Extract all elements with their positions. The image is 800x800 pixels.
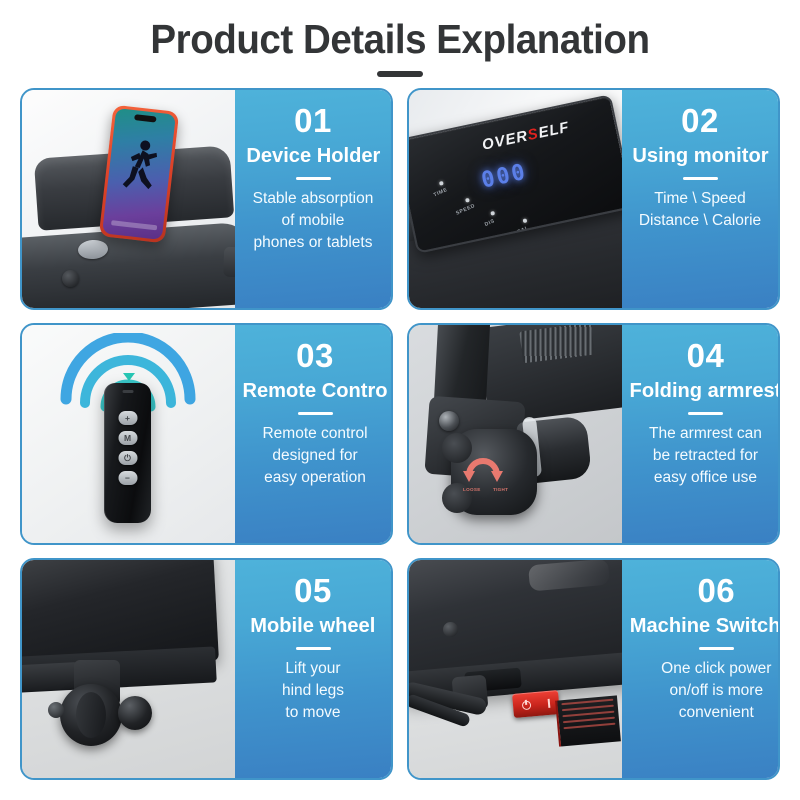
card-divider-03 <box>298 412 333 416</box>
label-line <box>562 711 614 718</box>
desc-line: Lift your <box>282 658 344 680</box>
feature-card-04[interactable]: LOOSE TIGHT 04 Folding armrest The armre… <box>407 323 780 545</box>
card-heading-03: Remote Contro <box>242 380 387 403</box>
wheel-axle-shape <box>48 702 64 718</box>
card-description-01: Stable absorption of mobile phones or ta… <box>253 188 374 254</box>
desc-line: convenient <box>661 702 771 724</box>
card-description-03: Remote control designed for easy operati… <box>262 423 367 489</box>
console-label-dis: DIS <box>484 218 496 228</box>
console-label-speed: SPEED <box>455 203 476 217</box>
feature-card-05[interactable]: 05 Mobile wheel Lift your hind legs to m… <box>20 558 393 780</box>
machine-small-knob-shape <box>443 622 458 637</box>
page-title: Product Details Explanation <box>24 17 776 62</box>
photo-mobile-wheel <box>22 560 235 778</box>
console-indicator-dot <box>523 218 528 223</box>
brand-suffix: ELF <box>537 119 571 142</box>
feature-card-grid: 01 Device Holder Stable absorption of mo… <box>20 88 780 780</box>
feature-card-03[interactable]: + M ⏻ − 03 Remote Contro Remote control … <box>20 323 393 545</box>
remote-led-strip <box>122 390 133 393</box>
phone-screen-caption-bar <box>111 220 157 230</box>
card-number-06: 06 <box>697 574 735 607</box>
card-divider-01 <box>296 177 331 181</box>
remote-button-mode[interactable]: M <box>118 431 137 445</box>
card-number-03: 03 <box>296 339 334 372</box>
card-text-panel-01: 01 Device Holder Stable absorption of mo… <box>235 90 391 308</box>
deck-foot-knob-shape <box>118 696 152 730</box>
runner-silhouette-icon <box>119 135 160 200</box>
card-description-06: One click power on/off is more convenien… <box>661 658 771 724</box>
brand-logo-text: OVERSELF <box>481 119 571 154</box>
card-text-panel-04: 04 Folding armrest The armrest can be re… <box>622 325 780 543</box>
phone-screen <box>102 108 176 240</box>
card-heading-01: Device Holder <box>246 145 380 168</box>
card-description-04: The armrest can be retracted for easy of… <box>649 423 762 489</box>
signal-emitter-icon <box>123 373 135 381</box>
photo-remote-control: + M ⏻ − <box>22 325 235 543</box>
console-label-time: TIME <box>433 187 449 198</box>
feature-card-01[interactable]: 01 Device Holder Stable absorption of mo… <box>20 88 393 310</box>
desc-line: Distance \ Calorie <box>639 210 761 232</box>
feature-card-02[interactable]: OVERSELF 000 TIME SPEED DIS CAL 02 Using… <box>407 88 780 310</box>
card-heading-05: Mobile wheel <box>250 615 375 638</box>
card-description-05: Lift your hind legs to move <box>282 658 344 724</box>
desc-line: Stable absorption <box>253 188 374 210</box>
desc-line: The armrest can <box>649 423 762 445</box>
desc-line: One click power <box>661 658 771 680</box>
feature-card-06[interactable]: 06 Machine Switches One click power on/o… <box>407 558 780 780</box>
power-on-symbol-icon <box>548 698 551 707</box>
smartphone-shape <box>99 105 180 244</box>
console-indicator-dot <box>465 198 470 203</box>
card-divider-06 <box>699 647 734 651</box>
led-readout: 000 <box>479 160 529 194</box>
armrest-bolt-shape <box>439 411 459 431</box>
photo-folding-armrest: LOOSE TIGHT <box>409 325 622 543</box>
card-heading-04: Folding armrest <box>630 380 780 403</box>
desc-line: to move <box>282 702 344 724</box>
card-divider-02 <box>683 177 718 181</box>
caster-wheel-shape <box>60 684 122 746</box>
card-text-panel-03: 03 Remote Contro Remote control designed… <box>235 325 393 543</box>
remote-button-plus[interactable]: + <box>118 411 137 425</box>
card-heading-02: Using monitor <box>632 145 768 168</box>
page-header: Product Details Explanation <box>0 0 800 77</box>
card-text-panel-05: 05 Mobile wheel Lift your hind legs to m… <box>235 560 391 778</box>
label-line <box>561 699 613 706</box>
remote-button-minus[interactable]: − <box>118 471 137 485</box>
desc-line: be retracted for <box>649 445 762 467</box>
desc-line: phones or tablets <box>253 232 374 254</box>
remote-button-power[interactable]: ⏻ <box>118 451 137 465</box>
label-line <box>563 723 615 730</box>
rotation-arrow-icon <box>461 449 505 489</box>
photo-device-holder <box>22 90 235 308</box>
desc-line: designed for <box>262 445 367 467</box>
desc-line: Remote control <box>262 423 367 445</box>
card-number-02: 02 <box>681 104 719 137</box>
card-heading-06: Machine Switches <box>630 615 780 638</box>
deck-knob-shape <box>62 270 79 287</box>
remote-body-shape: + M ⏻ − <box>104 383 151 523</box>
card-divider-05 <box>296 647 331 651</box>
card-text-panel-06: 06 Machine Switches One click power on/o… <box>622 560 780 778</box>
knob-label-tight: TIGHT <box>493 487 508 492</box>
desc-line: easy office use <box>649 467 762 489</box>
card-number-01: 01 <box>294 104 332 137</box>
knob-label-loose: LOOSE <box>463 487 481 492</box>
infographic-page: Product Details Explanation <box>0 0 800 800</box>
console-indicator-dot <box>490 211 495 216</box>
warning-label-strip <box>555 695 621 746</box>
power-off-symbol-icon <box>521 700 531 710</box>
console-indicator-dot <box>439 181 444 186</box>
label-line <box>562 705 614 712</box>
brand-prefix: OVER <box>481 127 530 153</box>
card-number-05: 05 <box>294 574 332 607</box>
card-text-panel-02: 02 Using monitor Time \ Speed Distance \… <box>622 90 778 308</box>
card-description-02: Time \ Speed Distance \ Calorie <box>639 188 761 232</box>
desc-line: Time \ Speed <box>639 188 761 210</box>
photo-machine-switches <box>409 560 622 778</box>
card-divider-04 <box>688 412 723 416</box>
card-number-04: 04 <box>687 339 725 372</box>
label-line <box>563 717 615 724</box>
wheel-inner-tread <box>76 692 106 738</box>
power-rocker-switch[interactable] <box>512 690 560 718</box>
title-underline-rule <box>377 71 423 77</box>
desc-line: of mobile <box>253 210 374 232</box>
phone-notch-shape <box>134 114 157 122</box>
desc-line: on/off is more <box>661 680 771 702</box>
desc-line: hind legs <box>282 680 344 702</box>
photo-using-monitor: OVERSELF 000 TIME SPEED DIS CAL <box>409 90 622 308</box>
desc-line: easy operation <box>262 467 367 489</box>
